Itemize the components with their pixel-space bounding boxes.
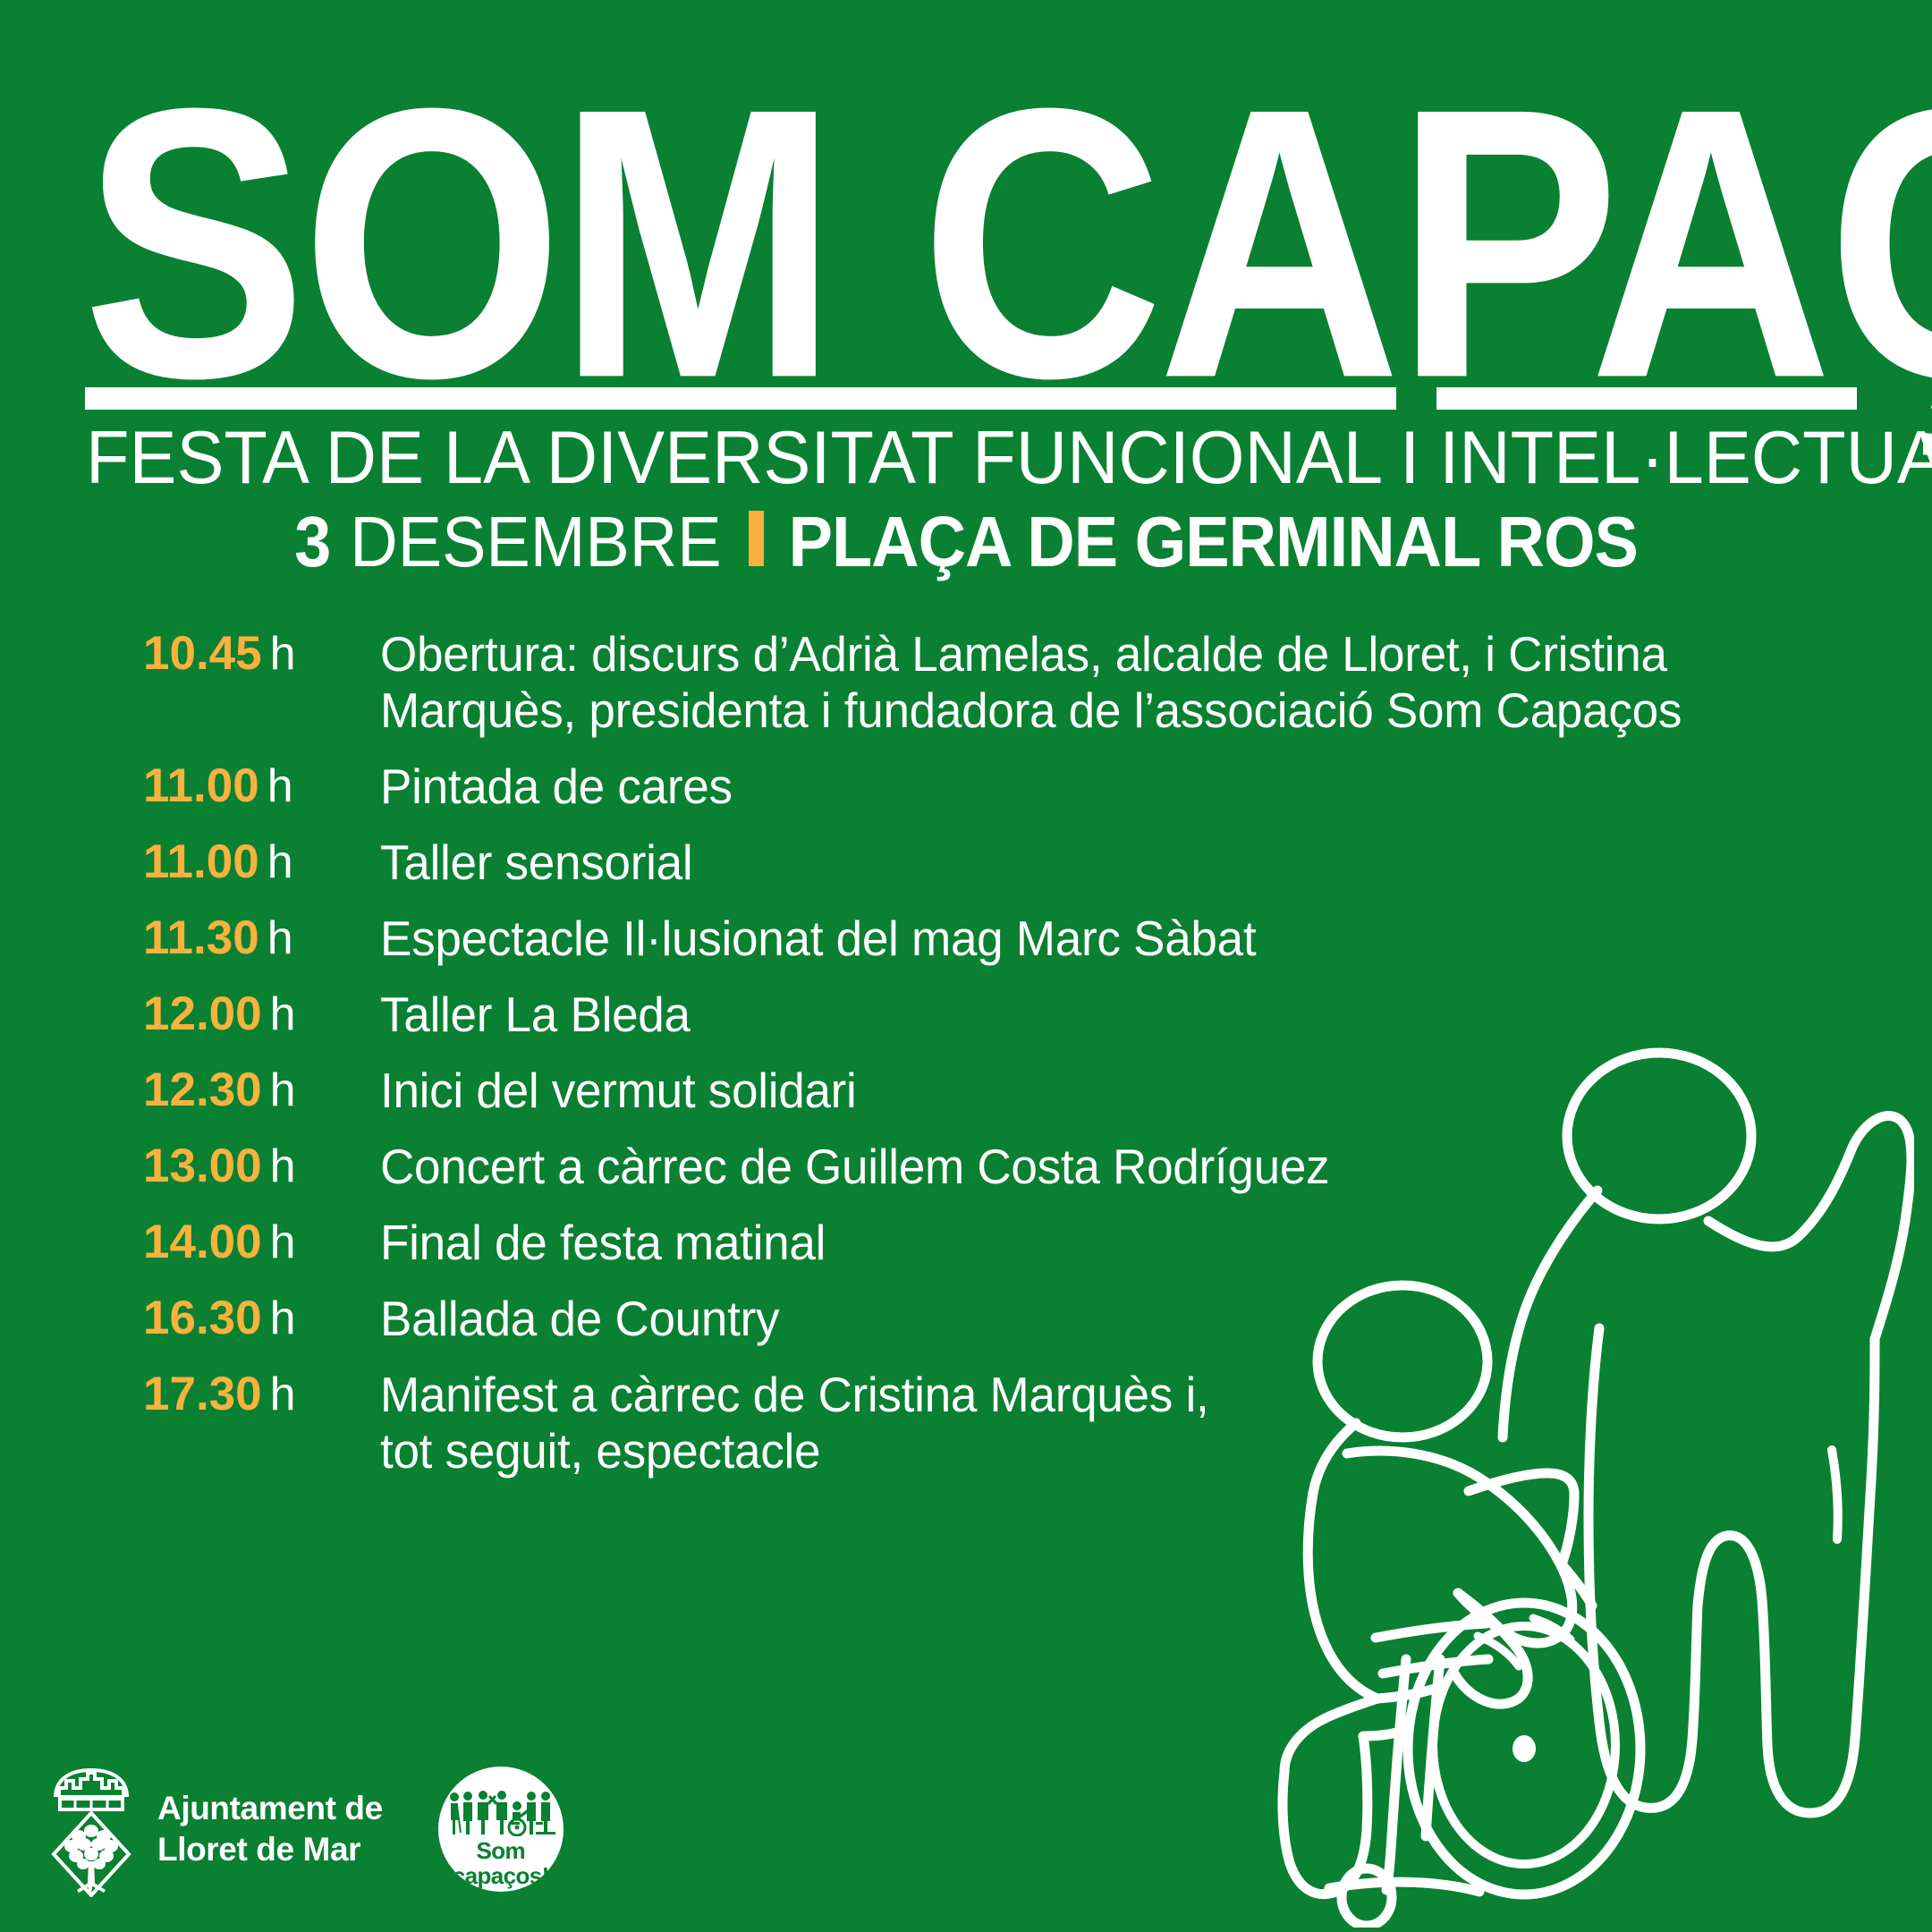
schedule-description-line: Manifest a càrrec de Cristina Marquès i, — [380, 1367, 1700, 1423]
schedule-description: Ballada de Country — [380, 1291, 1700, 1347]
schedule-description: Manifest a càrrec de Cristina Marquès i,… — [380, 1367, 1700, 1479]
schedule-description: Pintada de cares — [380, 758, 1700, 815]
crest-tree — [64, 1825, 118, 1894]
title-rule-left — [85, 387, 1396, 410]
schedule-description-line: Espectacle Il·lusionat del mag Marc Sàba… — [380, 911, 1700, 967]
user-lap-front — [1284, 1699, 1377, 1772]
schedule-time-value: 12.30 — [143, 1063, 262, 1116]
title-rule-right — [1436, 387, 1857, 410]
wheelchair-front-post-inner — [1426, 1659, 1440, 1836]
poster-subtitle: FESTA DE LA DIVERSITAT FUNCIONAL I INTEL… — [86, 419, 1875, 496]
schedule-time-unit: h — [267, 912, 293, 964]
user-back — [1308, 1493, 1377, 1699]
schedule-description-line: Concert a càrrec de Guillem Costa Rodríg… — [380, 1139, 1700, 1195]
user-leg — [1283, 1736, 1368, 1894]
schedule-time-value: 10.45 — [143, 627, 262, 680]
schedule-time-unit: h — [270, 988, 296, 1040]
schedule-row: 12.30hInici del vermut solidari — [0, 1063, 1932, 1119]
crest-svg — [48, 1761, 134, 1897]
user-lap-back — [1377, 1686, 1442, 1699]
schedule-description: Inici del vermut solidari — [380, 1063, 1700, 1119]
schedule-description: Taller sensorial — [380, 835, 1700, 891]
schedule-time: 12.30h — [143, 1063, 380, 1118]
group-of-people-icon — [446, 1790, 555, 1836]
schedule-time-unit: h — [267, 836, 293, 888]
wheelchair-seat-edge — [1363, 1731, 1402, 1736]
schedule-time-value: 16.30 — [143, 1292, 262, 1344]
date-and-venue-line: 3 DESEMBRE PLAÇA DE GERMINAL ROS — [0, 506, 1932, 578]
schedule-time: 14.00h — [143, 1215, 380, 1270]
schedule-time-value: 12.00 — [143, 987, 262, 1040]
wheelchair-front-post — [1386, 1659, 1406, 1890]
wheelchair-main-wheel-rim — [1433, 1626, 1615, 1864]
schedule-time-value: 17.30 — [143, 1368, 262, 1420]
schedule-time-value: 13.00 — [143, 1140, 262, 1192]
schedule-time-unit: h — [270, 1368, 296, 1420]
schedule-time: 11.00h — [143, 758, 380, 814]
schedule-time-unit: h — [270, 1292, 296, 1344]
wheelchair-main-wheel-hub — [1513, 1735, 1536, 1762]
page-title: SOM CAPAÇOS — [82, 52, 1932, 434]
schedule-time-unit: h — [270, 1216, 296, 1268]
schedule-description: Obertura: discurs d’Adrià Lamelas, alcal… — [380, 626, 1700, 739]
ajuntament-label-line2: Lloret de Mar — [157, 1829, 383, 1870]
schedule-description-line: tot seguit, espectacle — [380, 1423, 1700, 1479]
schedule-time-unit: h — [270, 1064, 296, 1116]
user-forearm — [1458, 1593, 1560, 1643]
schedule-row: 11.30hEspectacle Il·lusionat del mag Mar… — [0, 911, 1932, 967]
schedule-row: 10.45hObertura: discurs d’Adrià Lamelas,… — [0, 626, 1932, 739]
user-hand — [1454, 1593, 1528, 1704]
schedule-row: 11.00hPintada de cares — [0, 758, 1932, 815]
crown-and-tree-crest-icon — [48, 1761, 134, 1897]
schedule-description-line: Pintada de cares — [380, 758, 1700, 815]
schedule-description-line: Inici del vermut solidari — [380, 1063, 1700, 1119]
schedule-description: Concert a càrrec de Guillem Costa Rodríg… — [380, 1139, 1700, 1195]
schedule-time-unit: h — [270, 1140, 296, 1192]
venue-name: PLAÇA DE GERMINAL ROS — [789, 504, 1638, 580]
logo-som-capacos[interactable]: Som capaços! — [438, 1767, 563, 1892]
schedule-time-value: 11.00 — [143, 835, 259, 888]
schedule-row: 13.00hConcert a càrrec de Guillem Costa … — [0, 1139, 1932, 1195]
schedule-time: 17.30h — [143, 1367, 380, 1422]
schedule-description-line: Ballada de Country — [380, 1291, 1700, 1347]
schedule-description-line: Final de festa matinal — [380, 1215, 1700, 1271]
user-hand-crease — [1478, 1636, 1519, 1666]
logo-ajuntament-lloret[interactable]: Ajuntament de Lloret de Mar — [48, 1758, 383, 1901]
schedule-row: 11.00hTaller sensorial — [0, 835, 1932, 891]
schedule-time: 12.00h — [143, 987, 380, 1042]
schedule-time-value: 11.30 — [143, 911, 259, 964]
schedule-time: 10.45h — [143, 626, 380, 682]
schedule-row: 17.30hManifest a càrrec de Cristina Marq… — [0, 1367, 1932, 1479]
group-of-people-svg — [446, 1790, 555, 1836]
schedule-list: 10.45hObertura: discurs d’Adrià Lamelas,… — [0, 626, 1932, 1499]
wheelchair-footrest — [1329, 1882, 1479, 1892]
wheelchair-armrest — [1376, 1623, 1487, 1638]
ajuntament-label-line1: Ajuntament de — [157, 1788, 383, 1829]
poster-canvas: SOM CAPAÇOS FESTA DE LA DIVERSITAT FUNCI… — [0, 0, 1932, 1932]
schedule-description: Final de festa matinal — [380, 1215, 1700, 1271]
schedule-time: 13.00h — [143, 1139, 380, 1194]
date-number: 3 — [294, 504, 330, 580]
schedule-time-unit: h — [267, 760, 293, 812]
schedule-description-line: Taller sensorial — [380, 835, 1700, 891]
poster-header: SOM CAPAÇOS FESTA DE LA DIVERSITAT FUNCI… — [0, 0, 1932, 626]
orange-divider-bar — [749, 511, 764, 566]
schedule-row: 16.30hBallada de Country — [0, 1291, 1932, 1347]
som-capacos-wordmark: Som capaços! — [438, 1838, 563, 1888]
schedule-time-unit: h — [270, 628, 296, 680]
schedule-description-line: Obertura: discurs d’Adrià Lamelas, alcal… — [380, 626, 1700, 682]
wheelchair-main-wheel-tire — [1408, 1603, 1640, 1894]
schedule-time: 11.30h — [143, 911, 380, 966]
schedule-row: 14.00hFinal de festa matinal — [0, 1215, 1932, 1271]
wheelchair-armrest-lower — [1383, 1659, 1488, 1674]
schedule-time-value: 14.00 — [143, 1216, 262, 1268]
schedule-time: 16.30h — [143, 1291, 380, 1346]
schedule-description-line: Marquès, presidenta i fundadora de l’ass… — [380, 682, 1700, 739]
wheelchair-caster-wheel — [1342, 1868, 1392, 1926]
date-month: DESEMBRE — [350, 504, 721, 580]
schedule-row: 12.00hTaller La Bleda — [0, 987, 1932, 1043]
ajuntament-label: Ajuntament de Lloret de Mar — [157, 1788, 383, 1870]
schedule-description: Taller La Bleda — [380, 987, 1700, 1043]
schedule-description-line: Taller La Bleda — [380, 987, 1700, 1043]
wheelchair-backrest-edge — [1562, 1564, 1592, 1606]
footer-logo-bar: Ajuntament de Lloret de Mar — [48, 1744, 764, 1914]
wheelchair-wheel-highlight — [1533, 1618, 1571, 1640]
schedule-time-value: 11.00 — [143, 759, 259, 812]
schedule-time: 11.00h — [143, 835, 380, 890]
schedule-description: Espectacle Il·lusionat del mag Marc Sàba… — [380, 911, 1700, 967]
